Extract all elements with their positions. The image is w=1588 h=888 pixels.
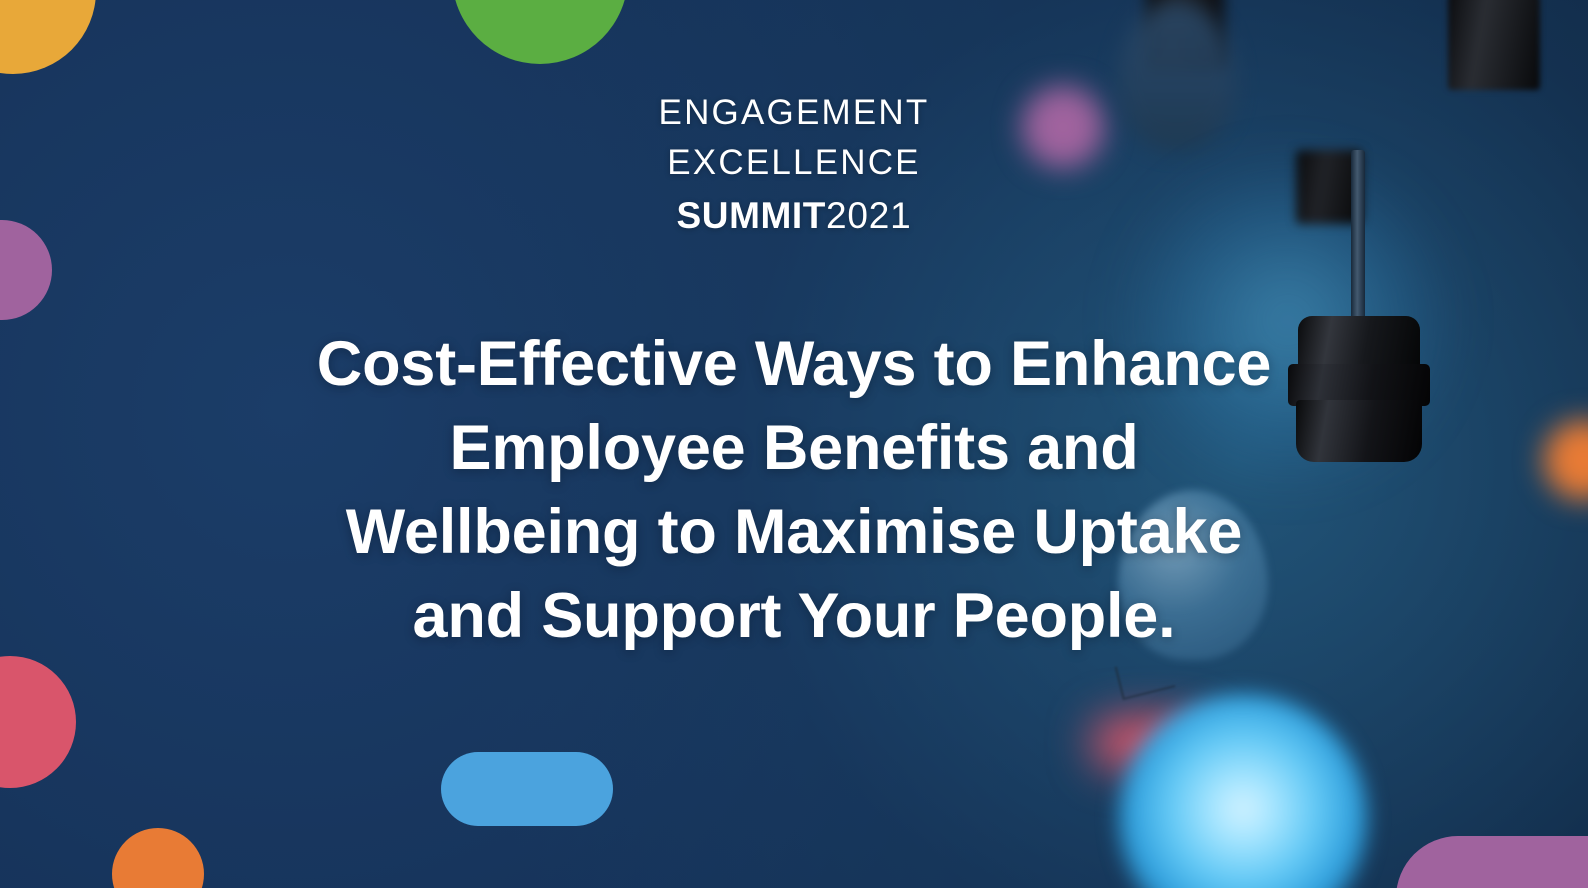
title-line-3: Wellbeing to Maximise Uptake	[210, 490, 1378, 574]
logo-line-engagement: ENGAGEMENT	[0, 88, 1588, 138]
decor-pink-circle-left	[0, 656, 76, 788]
illuminated-bulb-glow	[1118, 694, 1368, 888]
decor-blue-pill	[441, 752, 613, 826]
logo-line-excellence: EXCELLENCE	[0, 138, 1588, 188]
title-line-4: and Support Your People.	[210, 574, 1378, 658]
slide-title: Cost-Effective Ways to Enhance Employee …	[210, 322, 1378, 658]
title-line-2: Employee Benefits and	[210, 406, 1378, 490]
title-line-1: Cost-Effective Ways to Enhance	[210, 322, 1378, 406]
presentation-slide: ENGAGEMENT EXCELLENCE SUMMIT2021 Cost-Ef…	[0, 0, 1588, 888]
event-logo: ENGAGEMENT EXCELLENCE SUMMIT2021	[0, 88, 1588, 244]
decor-yellow-circle	[0, 0, 96, 74]
logo-line-summit-year: SUMMIT2021	[0, 188, 1588, 244]
decor-orange-circle-bottom	[112, 828, 204, 888]
logo-brand-summit: SUMMIT	[676, 195, 826, 236]
decor-green-circle	[452, 0, 628, 64]
clear-bulb-filament	[1115, 654, 1176, 700]
clear-bulb-cap	[1448, 0, 1540, 90]
logo-year: 2021	[826, 195, 912, 236]
